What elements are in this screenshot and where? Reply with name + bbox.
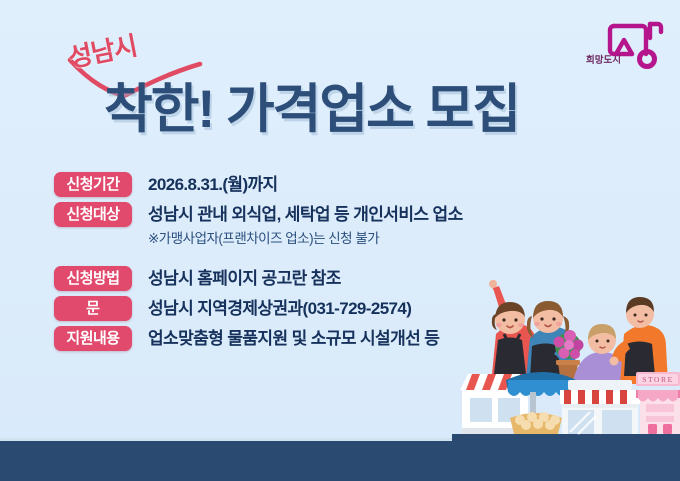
- contact-value: 성남시 지역경제상권과(031-729-2574): [148, 297, 411, 320]
- store-sign: STORE: [636, 372, 680, 386]
- info-row-body: 성남시 관내 외식업, 세탁업 등 개인서비스 업소 ※가맹사업자(프랜차이즈 …: [148, 202, 463, 248]
- eligibility-value: 성남시 관내 외식업, 세탁업 등 개인서비스 업소: [148, 203, 463, 226]
- badge-contact: 문 의: [54, 296, 132, 321]
- store-sign-label: STORE: [642, 375, 674, 384]
- poster: 희망도시 성남시 착한! 가격업소 모집 신청기간 2026.8.31.(월)까…: [0, 0, 680, 481]
- badge-support-details: 지원내용: [54, 326, 132, 351]
- storefront-pink: STORE: [636, 372, 680, 434]
- info-row-body: 2026.8.31.(월)까지: [148, 172, 278, 196]
- page-title: 착한! 가격업소 모집: [104, 78, 604, 144]
- info-row-eligibility: 신청대상 성남시 관내 외식업, 세탁업 등 개인서비스 업소 ※가맹사업자(프…: [54, 202, 524, 248]
- logo-tagline: 희망도시: [586, 54, 621, 66]
- info-row-application-period: 신청기간 2026.8.31.(월)까지: [54, 172, 524, 197]
- person-florist: [526, 301, 584, 383]
- info-row-body: 업소맞춤형 물품지원 및 소규모 시설개선 등: [148, 326, 439, 350]
- badge-how-to-apply: 신청방법: [54, 266, 132, 291]
- info-row-body: 성남시 지역경제상권과(031-729-2574): [148, 296, 411, 320]
- application-period-value: 2026.8.31.(월)까지: [148, 173, 278, 196]
- storefront-center: [560, 380, 640, 434]
- seongnam-city-logo: 희망도시: [580, 14, 666, 70]
- bottom-bar: [0, 441, 680, 481]
- badge-eligibility: 신청대상: [54, 202, 132, 227]
- info-row-body: 성남시 홈페이지 공고란 참조: [148, 266, 341, 290]
- support-details-value: 업소맞춤형 물품지원 및 소규모 시설개선 등: [148, 327, 439, 350]
- small-business-illustration: STORE: [452, 268, 680, 441]
- how-to-apply-value: 성남시 홈페이지 공고란 참조: [148, 267, 341, 290]
- badge-application-period: 신청기간: [54, 172, 132, 197]
- awning-striped: [560, 390, 640, 408]
- eligibility-note: ※가맹사업자(프랜차이즈 업소)는 신청 불가: [148, 229, 463, 248]
